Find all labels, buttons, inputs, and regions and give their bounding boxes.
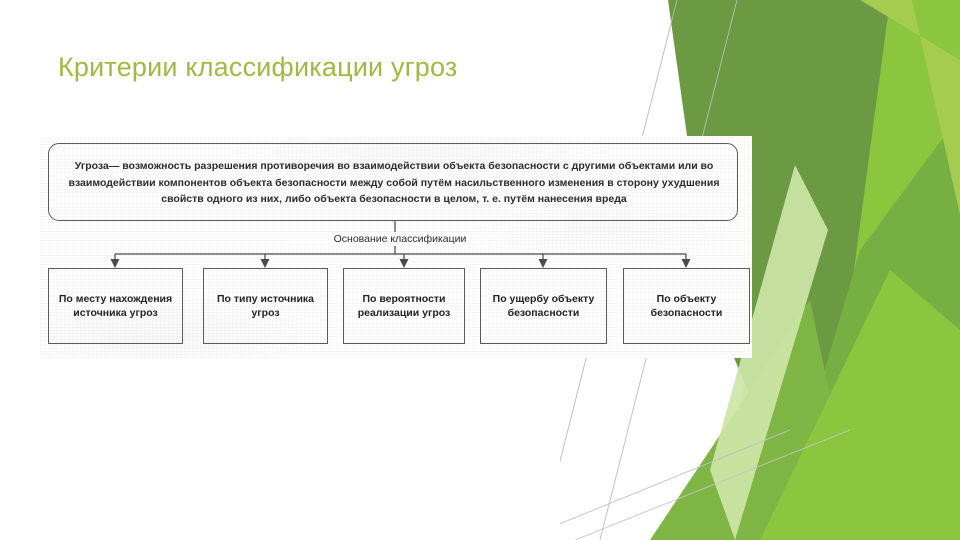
category-label-4: По объекту безопасности	[628, 292, 745, 321]
facet-shape-lowerbright	[760, 270, 960, 540]
arrowhead-2	[400, 259, 409, 268]
category-box-0: По месту нахождения источника угроз	[48, 268, 183, 344]
category-label-0: По месту нахождения источника угроз	[53, 292, 178, 321]
arrowhead-3	[539, 259, 548, 268]
category-box-1: По типу источника угроз	[203, 268, 328, 344]
threat-classification-diagram: Угроза— возможность разрешения противоре…	[40, 136, 752, 358]
basis-label: Основание классификации	[290, 232, 510, 246]
arrowhead-1	[261, 259, 270, 268]
facet-shape-brightgreen	[818, 0, 960, 540]
facet-shape-verypale	[730, 150, 890, 540]
category-label-3: По ущербу объекту безопасности	[485, 292, 602, 321]
arrowhead-0	[111, 259, 120, 268]
arrowhead-4	[682, 259, 691, 268]
category-label-1: По типу источника угроз	[208, 292, 323, 321]
slide-canvas: Критерии классификации угроз Угроза— воз…	[0, 0, 960, 540]
category-box-3: По ущербу объекту безопасности	[480, 268, 607, 344]
category-label-2: По вероятности реализации угроз	[348, 292, 460, 321]
category-box-4: По объекту безопасности	[623, 268, 750, 344]
category-box-2: По вероятности реализации угроз	[343, 268, 465, 344]
facet-hairline-lower	[560, 430, 790, 540]
page-title: Критерии классификации угроз	[58, 50, 457, 84]
facet-shape-midgreen	[775, 115, 960, 540]
hairline-diagonal-bottom	[575, 430, 850, 540]
facet-shape-lightgreen	[860, 0, 960, 215]
